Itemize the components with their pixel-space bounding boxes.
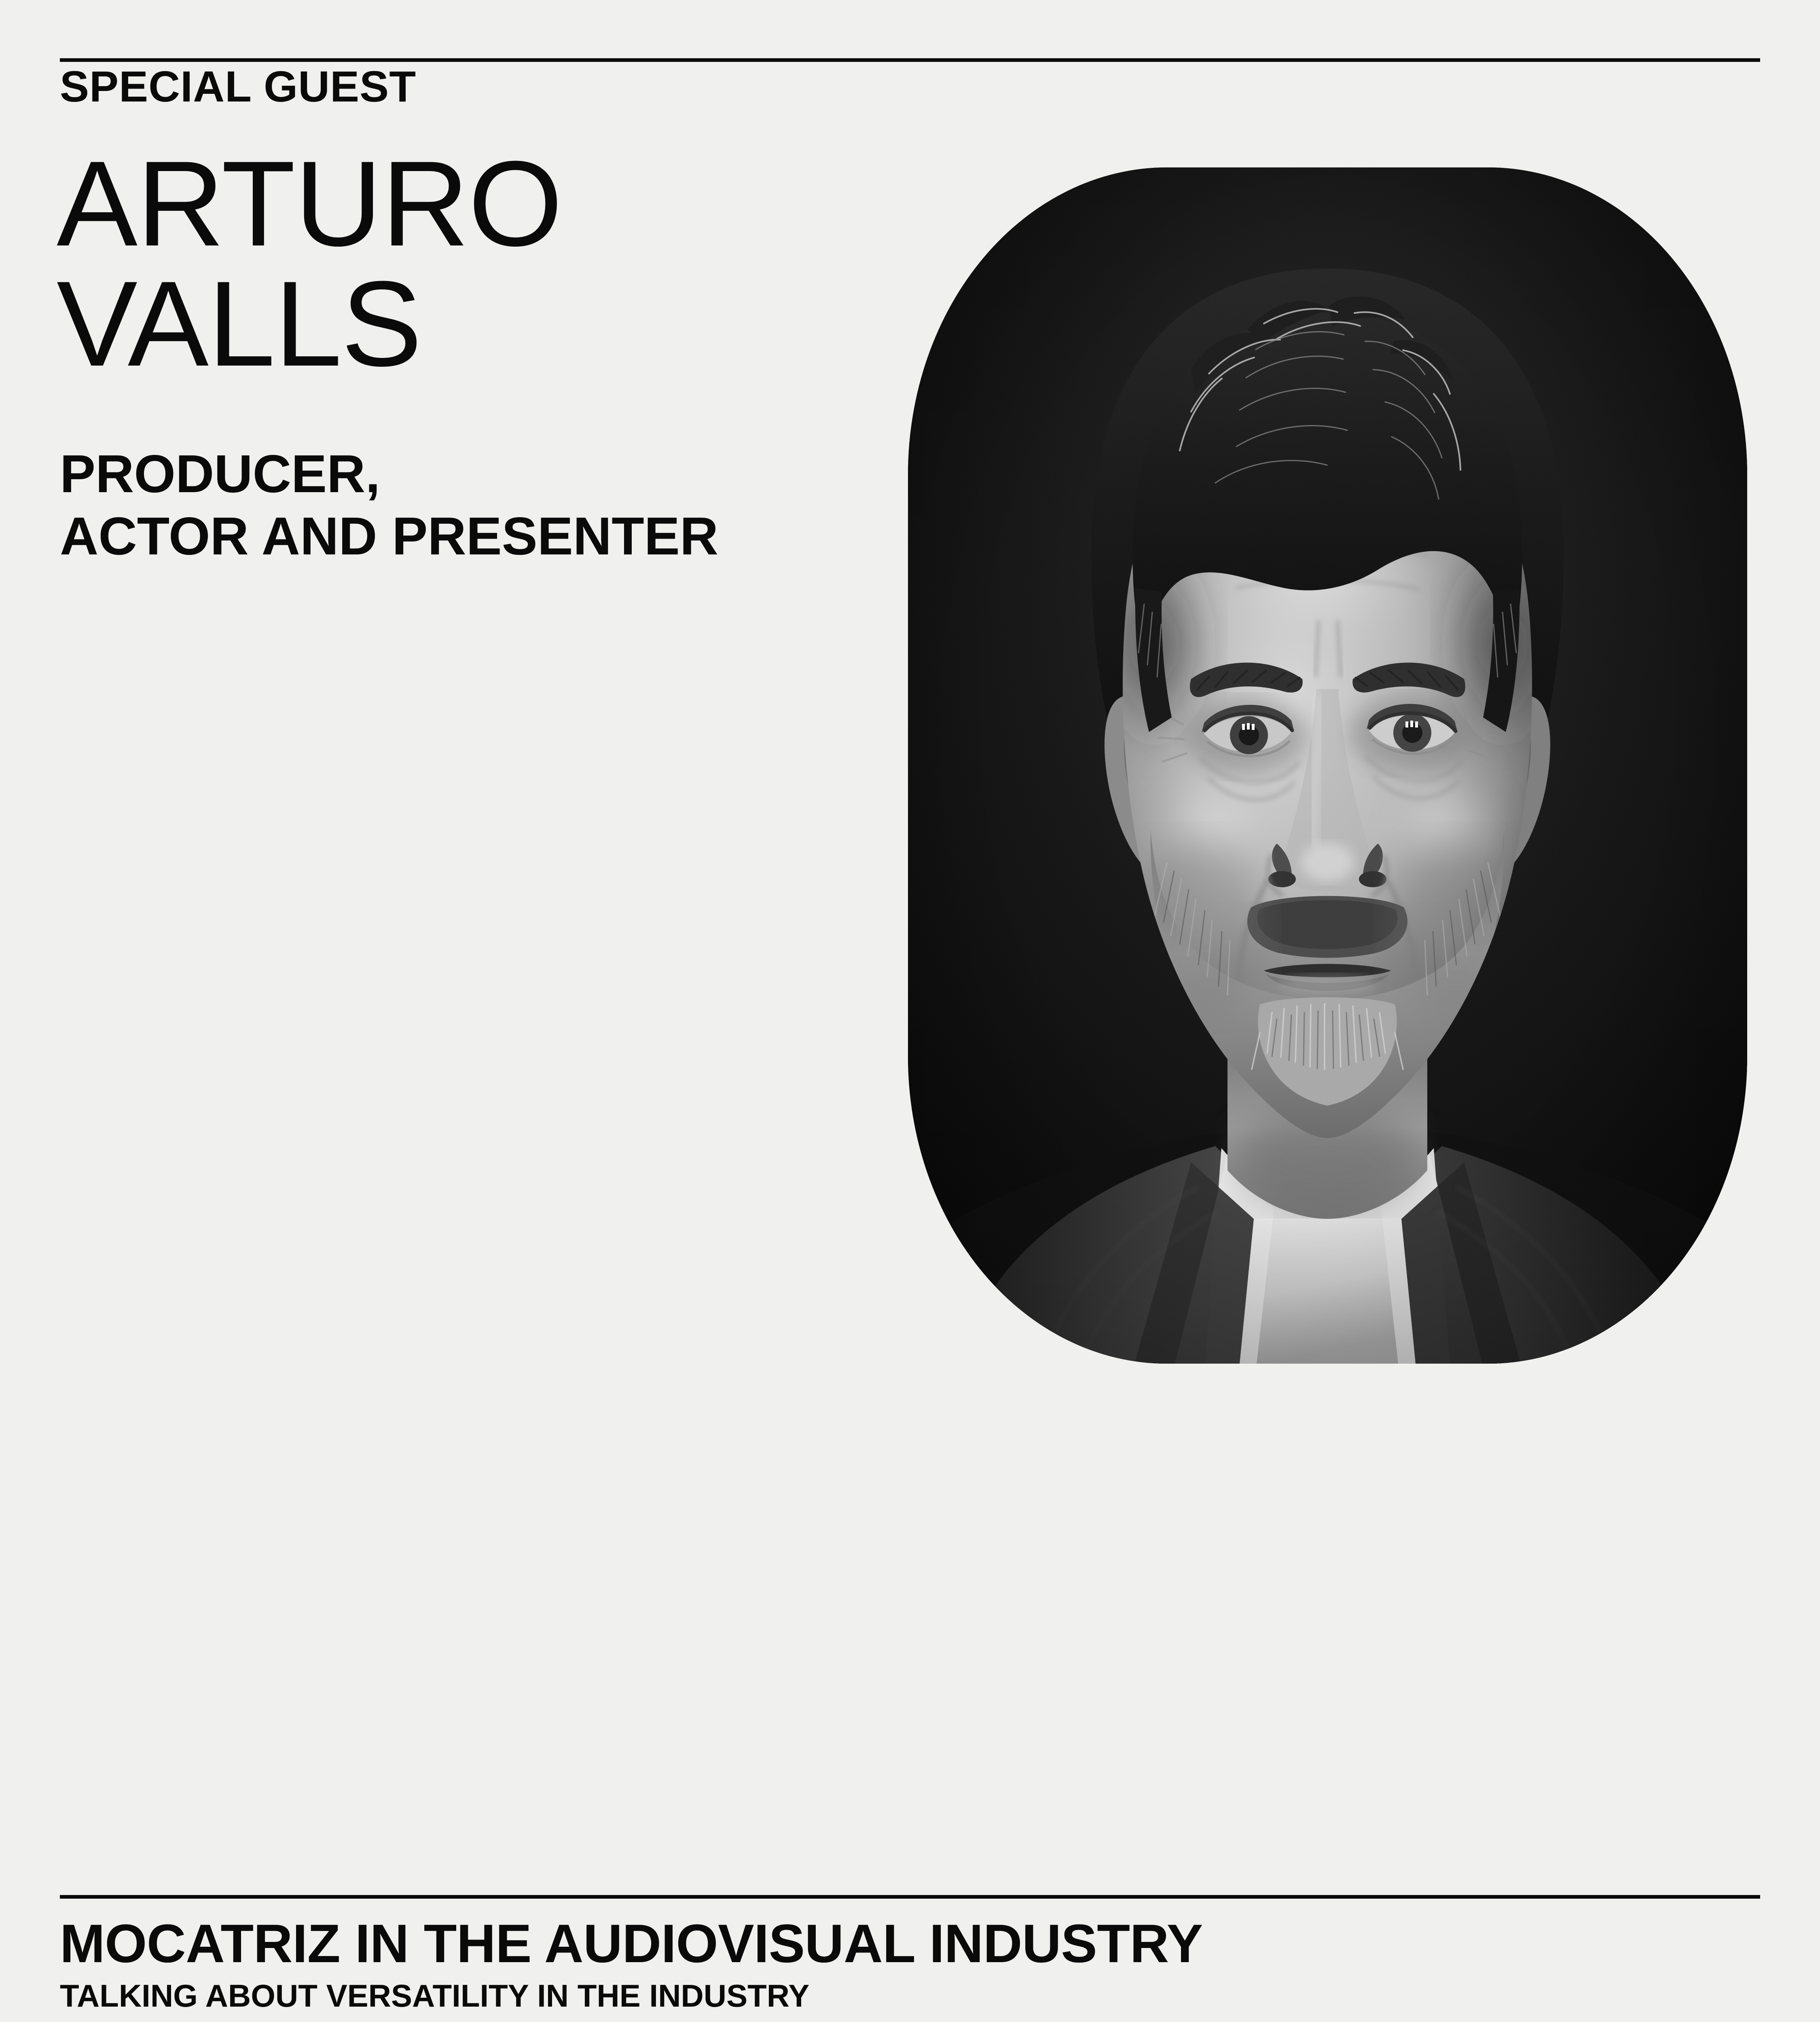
poster-canvas: SPECIAL GUEST ARTURO VALLS PRODUCER, ACT… [0, 0, 1820, 2022]
header-divider [60, 58, 1760, 62]
talk-block: MOCATRIZ IN THE AUDIOVISUAL INDUSTRY TAL… [60, 1917, 1203, 2011]
guest-role-line-1: PRODUCER, [60, 443, 718, 505]
portrait-illustration [908, 167, 1747, 1364]
guest-portrait-photo [908, 167, 1747, 1364]
eyebrow-label: SPECIAL GUEST [60, 63, 416, 111]
guest-name: ARTURO VALLS [57, 144, 562, 384]
guest-role-line-2: ACTOR AND PRESENTER [60, 505, 718, 567]
talk-title: MOCATRIZ IN THE AUDIOVISUAL INDUSTRY [60, 1917, 1203, 1971]
guest-name-line-2: VALLS [57, 264, 562, 384]
talk-subtitle: TALKING ABOUT VERSATILITY IN THE INDUSTR… [60, 1980, 1203, 2011]
guest-name-line-1: ARTURO [57, 144, 562, 264]
talk-divider [60, 1895, 1760, 1899]
guest-role: PRODUCER, ACTOR AND PRESENTER [60, 443, 718, 568]
photo-grain [908, 167, 1747, 1364]
